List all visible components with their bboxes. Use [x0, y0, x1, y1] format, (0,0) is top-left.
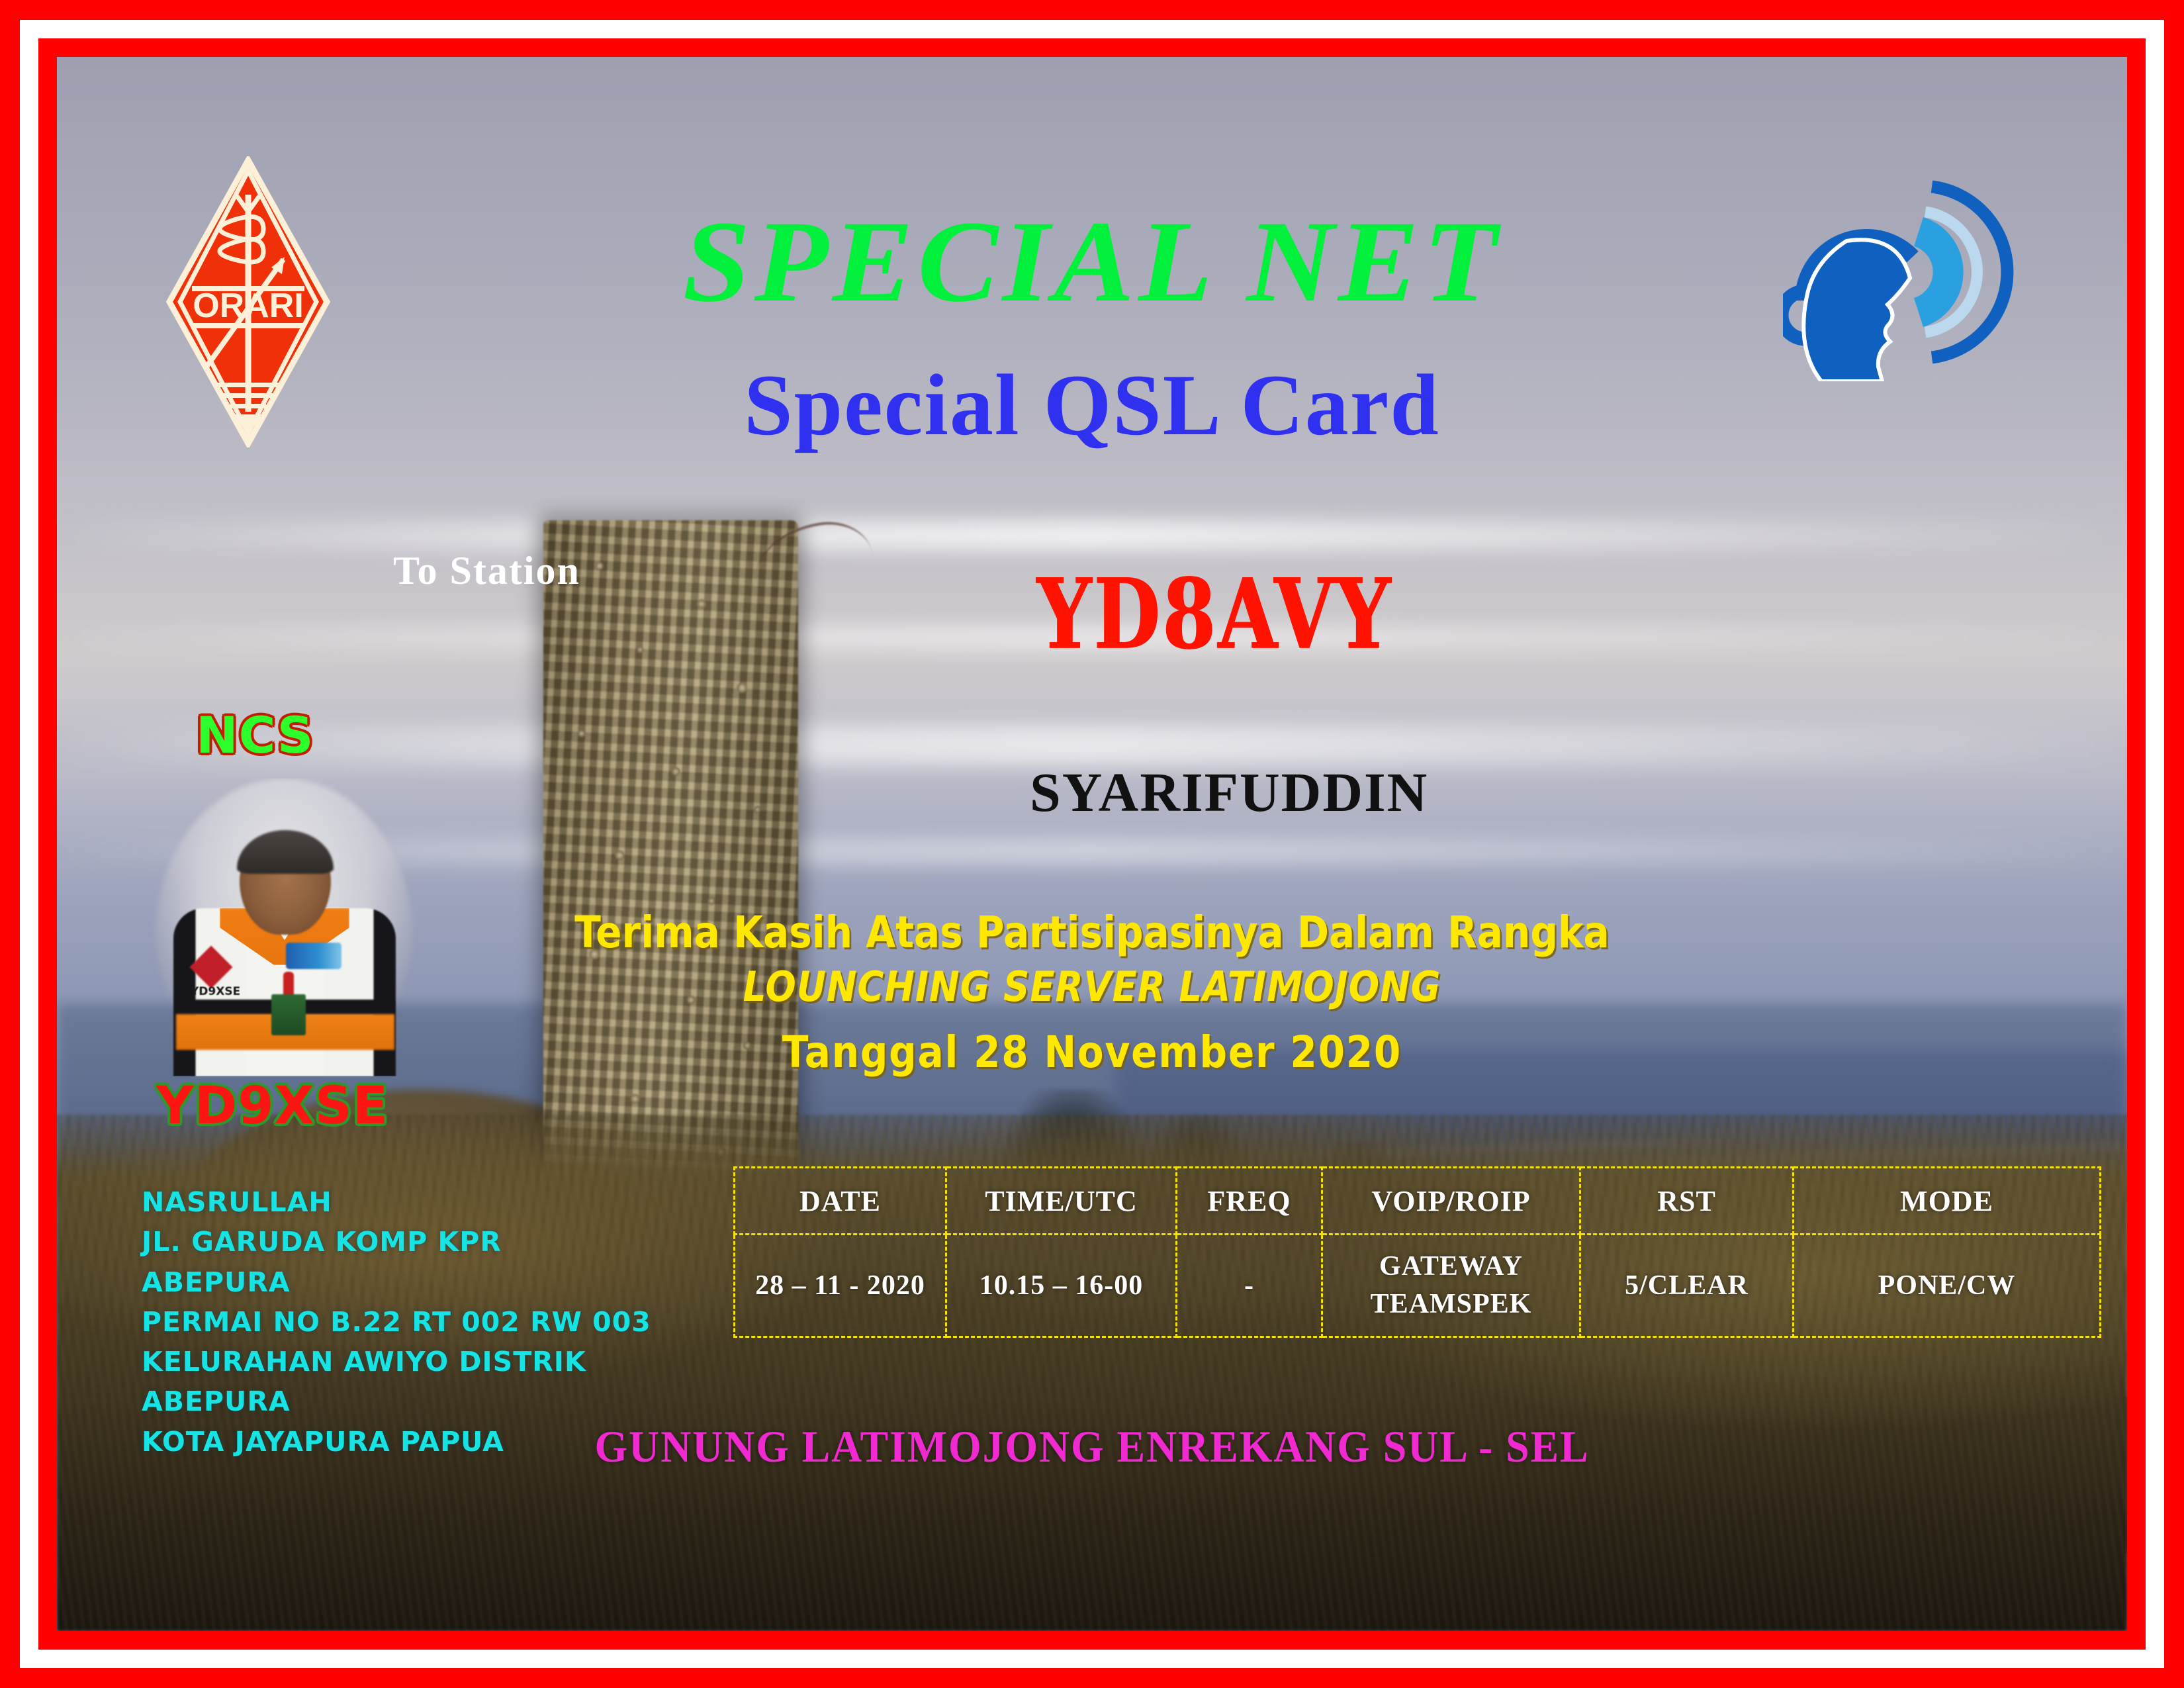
table-row: 28 – 11 - 2020 10.15 – 16-00 - GATEWAY T…	[735, 1235, 2101, 1337]
cell-mode: PONE/CW	[1794, 1235, 2101, 1337]
address-line: PERMAI NO B.22 RT 002 RW 003	[142, 1302, 651, 1342]
cell-date: 28 – 11 - 2020	[735, 1235, 946, 1337]
thanks-line-3: Tanggal 28 November 2020	[181, 1017, 2003, 1088]
ncs-label: NCS	[196, 706, 314, 765]
operator-name: SYARIFUDDIN	[1030, 765, 1428, 821]
address-block: NASRULLAH JL. GARUDA KOMP KPR ABEPURA PE…	[142, 1182, 651, 1462]
station-callsign: YD8AVY	[1036, 567, 1392, 663]
table-header-row: DATE TIME/UTC FREQ VOIP/ROIP RST MODE	[735, 1168, 2101, 1235]
page-title: SPECIAL NET	[57, 204, 2127, 320]
address-line: ABEPURA	[142, 1382, 651, 1421]
cell-time: 10.15 – 16-00	[946, 1235, 1177, 1337]
table-header-freq: FREQ	[1177, 1168, 1322, 1235]
portrait-id-badge	[271, 994, 306, 1035]
thanks-line-2: LOUNCHING SERVER LATIMOJONG	[181, 956, 2003, 1017]
address-line: NASRULLAH	[142, 1182, 651, 1222]
cell-voip: GATEWAY TEAMSPEK	[1322, 1235, 1580, 1337]
to-station-label: To Station	[393, 548, 580, 594]
cell-freq: -	[1177, 1235, 1322, 1337]
portrait-uniform-callsign: YD9XSE	[191, 985, 240, 998]
address-line: KELURAHAN AWIYO DISTRIK	[142, 1342, 651, 1382]
ncs-portrait: YD9XSE	[142, 778, 426, 1076]
table-header-time: TIME/UTC	[946, 1168, 1177, 1235]
portrait-patch-right	[286, 943, 341, 969]
table-header-voip: VOIP/ROIP	[1322, 1168, 1580, 1235]
cloud-band	[57, 726, 2127, 765]
page-subtitle: Special QSL Card	[57, 361, 2127, 449]
table-header-mode: MODE	[1794, 1168, 2101, 1235]
table-header-date: DATE	[735, 1168, 946, 1235]
qsl-card: ORARI SPECIAL NET Special QSL Card To St…	[0, 0, 2184, 1688]
ncs-callsign: YD9XSE	[156, 1076, 388, 1136]
cloud-band	[57, 520, 2127, 551]
table-header-rst: RST	[1580, 1168, 1794, 1235]
address-line: ABEPURA	[142, 1262, 651, 1302]
thanks-line-1: Terima Kasih Atas Partisipasinya Dalam R…	[181, 910, 2003, 956]
cell-rst: 5/CLEAR	[1580, 1235, 1794, 1337]
card-photo-area: ORARI SPECIAL NET Special QSL Card To St…	[57, 57, 2127, 1631]
location-line: GUNUNG LATIMOJONG ENREKANG SUL - SEL	[119, 1421, 2065, 1473]
qso-table: DATE TIME/UTC FREQ VOIP/ROIP RST MODE 28…	[733, 1166, 2101, 1338]
address-line: JL. GARUDA KOMP KPR	[142, 1222, 651, 1262]
